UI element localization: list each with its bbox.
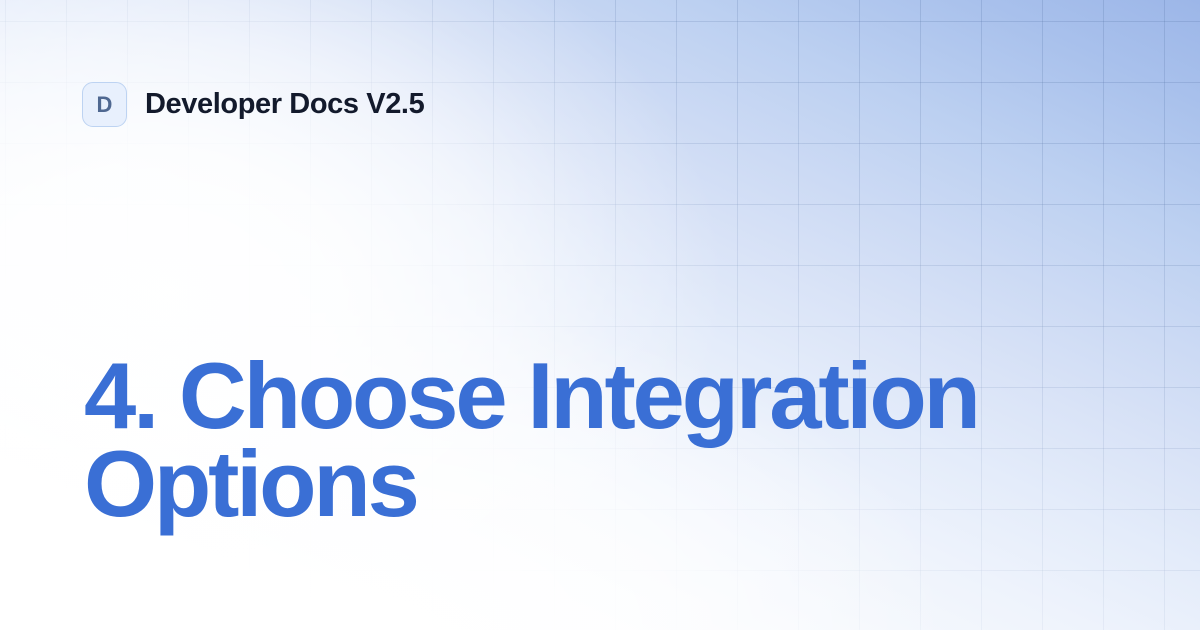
brand-title: Developer Docs V2.5	[145, 90, 424, 119]
slide-content: D Developer Docs V2.5 4. Choose Integrat…	[0, 0, 1200, 630]
docs-logo-badge-icon: D	[82, 82, 127, 127]
page-title-line-1: 4. Choose Integration	[84, 352, 1094, 440]
badge-letter: D	[96, 94, 112, 116]
page-title-line-2: Options	[84, 440, 1094, 528]
slide-canvas: D Developer Docs V2.5 4. Choose Integrat…	[0, 0, 1200, 630]
brand-header: D Developer Docs V2.5	[82, 82, 424, 127]
page-title: 4. Choose Integration Options	[84, 352, 1094, 528]
